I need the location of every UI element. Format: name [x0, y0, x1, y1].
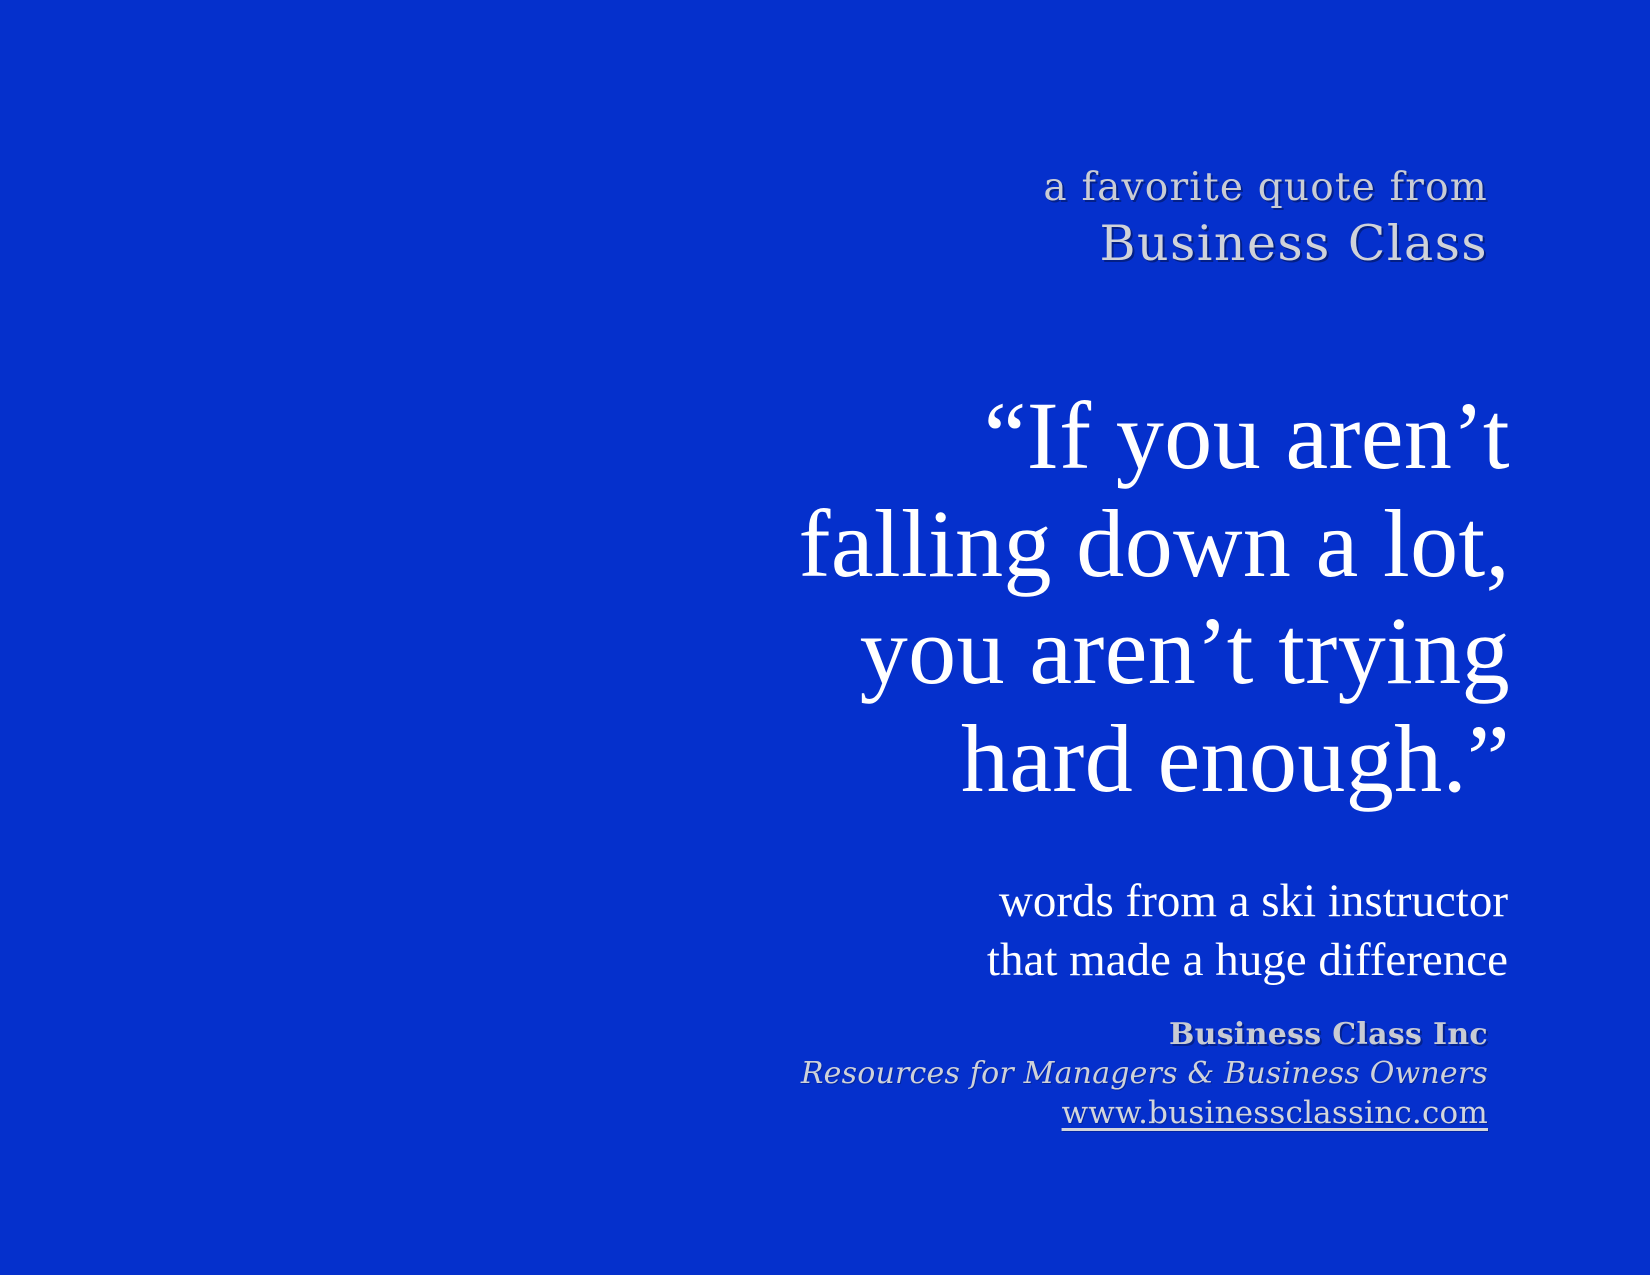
quote-line-4: hard enough.” [750, 705, 1510, 813]
website-link[interactable]: www.businessclassinc.com [801, 1098, 1488, 1129]
footer-signature: Business Class Inc Resources for Manager… [801, 1020, 1488, 1129]
attribution-line-2: that made a huge difference [987, 931, 1508, 990]
quote-line-2: falling down a lot, [750, 490, 1510, 598]
company-tagline: Resources for Managers & Business Owners [801, 1059, 1488, 1089]
attribution-line-1: words from a ski instructor [987, 872, 1508, 931]
quote-line-3: you aren’t trying [750, 597, 1510, 705]
brand-title: Business Class [1043, 219, 1488, 268]
quote-line-1: “If you aren’t [750, 382, 1510, 490]
quote-text: “If you aren’t falling down a lot, you a… [750, 382, 1510, 812]
quote-attribution: words from a ski instructor that made a … [987, 872, 1508, 990]
kicker-text: a favorite quote from [1043, 168, 1488, 207]
company-name: Business Class Inc [801, 1020, 1488, 1050]
quote-slide: a favorite quote from Business Class “If… [0, 0, 1650, 1275]
header-block: a favorite quote from Business Class [1043, 168, 1488, 268]
